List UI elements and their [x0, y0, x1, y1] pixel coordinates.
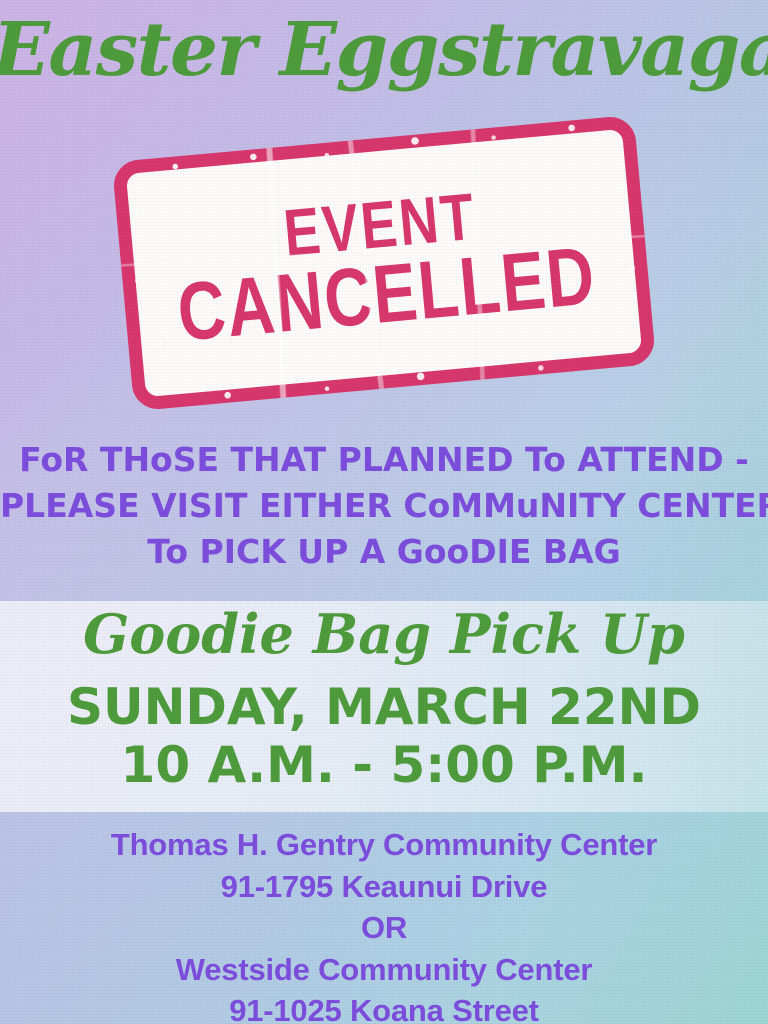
address-line-westside-name: Westside Community Center [0, 949, 768, 991]
notice-line-1: FoR THoSE THAT PLANNED To ATTEND - [0, 437, 768, 483]
notice-line-2: PLEASE VISIT EITHER CoMMuNITY CENTER [0, 483, 768, 529]
pickup-date: SUNDAY, MARCH 22ND [0, 682, 768, 732]
address-line-gentry-street: 91-1795 Keaunui Drive [0, 866, 768, 908]
notice-line-3: To PICK UP A GooDIE BAG [0, 529, 768, 575]
address-block: Thomas H. Gentry Community Center 91-179… [0, 824, 768, 1024]
address-line-gentry-name: Thomas H. Gentry Community Center [0, 824, 768, 866]
notice-text: FoR THoSE THAT PLANNED To ATTEND - PLEAS… [0, 437, 768, 575]
event-flyer: Easter Eggstravaganza EVENT CANCELLED Fo… [0, 0, 768, 1024]
stamp-text: EVENT CANCELLED [112, 115, 657, 411]
address-line-westside-street: 91-1025 Koana Street [0, 990, 768, 1024]
event-cancelled-stamp: EVENT CANCELLED [112, 115, 657, 411]
stamp-line-cancelled: CANCELLED [175, 238, 599, 351]
pickup-time: 10 A.M. - 5:00 P.M. [0, 740, 768, 790]
page-title: Easter Eggstravaganza [0, 12, 768, 90]
pickup-heading: Goodie Bag Pick Up [0, 605, 768, 664]
address-line-or: OR [0, 907, 768, 949]
